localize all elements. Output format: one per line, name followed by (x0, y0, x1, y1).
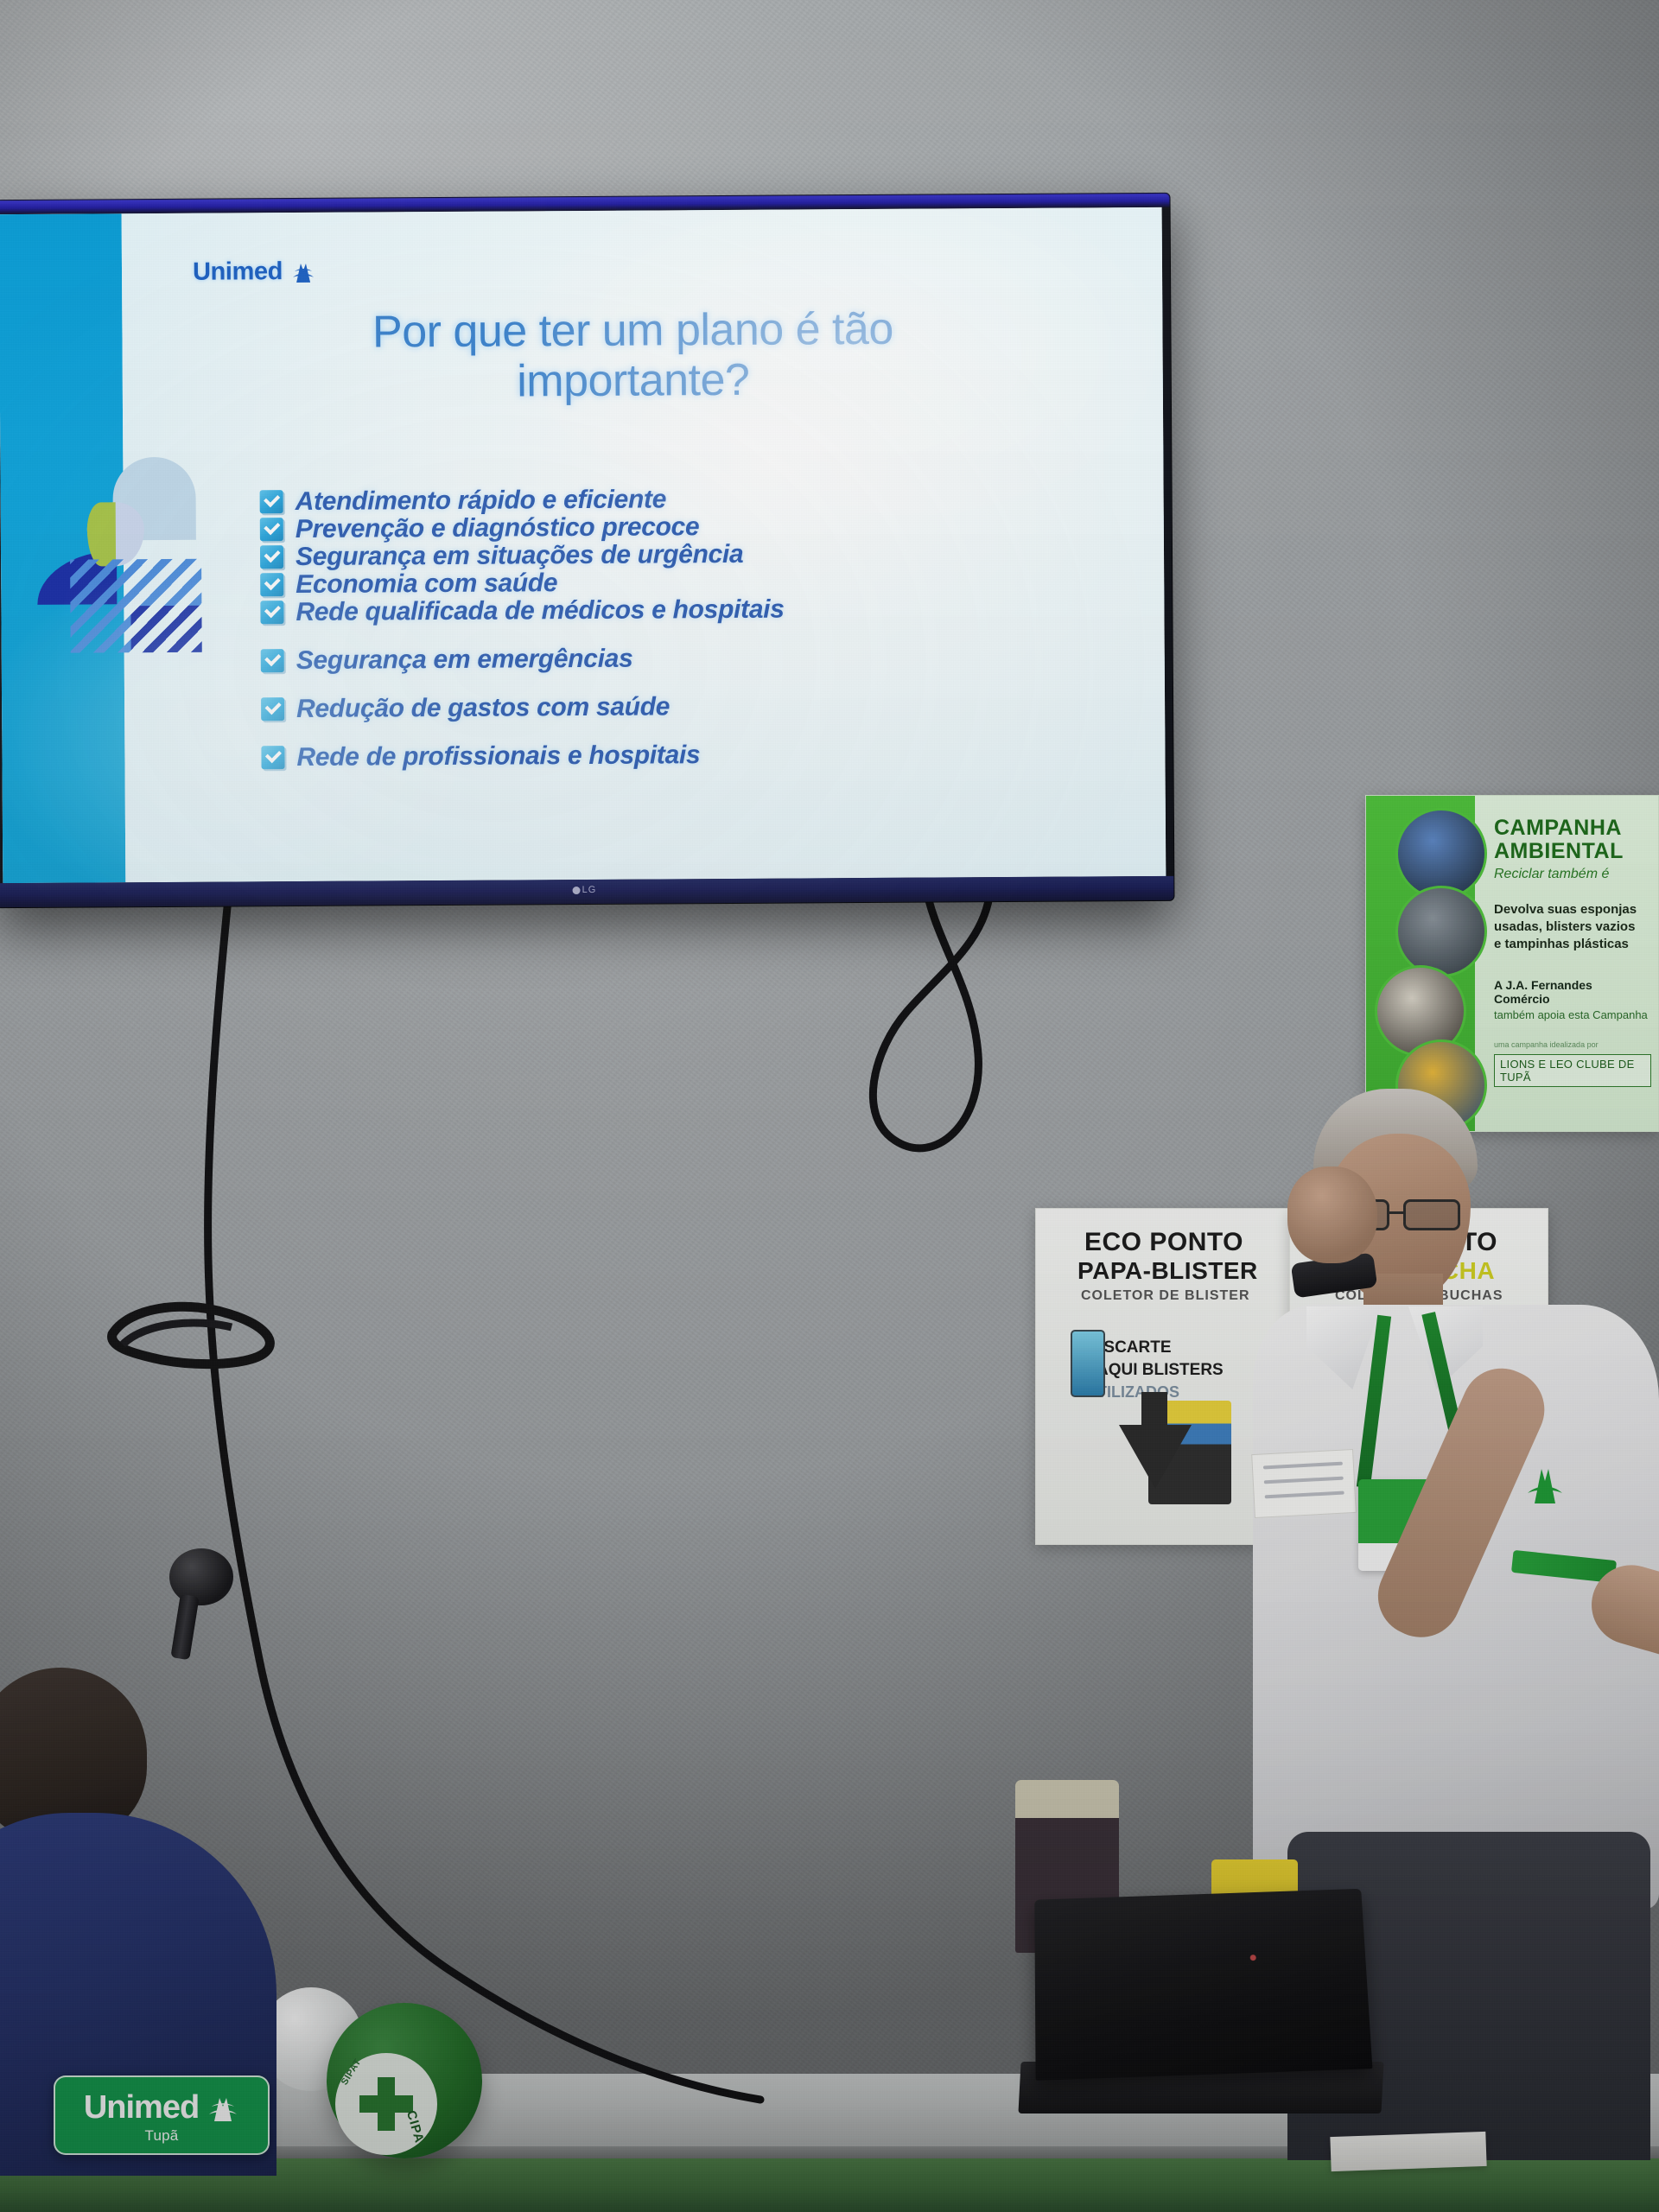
laptop-lid (1034, 1889, 1372, 2081)
slide-bullet-label: Rede qualificada de médicos e hospitais (296, 597, 784, 626)
slide-bullet-label: Atendimento rápido e eficiente (296, 486, 667, 515)
slide-decorative-graphic (36, 457, 208, 655)
slide-bullet-list: Atendimento rápido e eficientePrevenção … (260, 486, 785, 773)
presenter-name-tag (1251, 1449, 1357, 1518)
cipa-cross-icon (359, 2077, 413, 2131)
watermark-city: Tupã (145, 2127, 179, 2145)
slide-unimed-logo: Unimed (193, 257, 316, 287)
eco1-blister-image (1071, 1330, 1105, 1397)
check-box-icon (260, 601, 283, 624)
slide-bullet-label: Segurança em emergências (296, 646, 633, 674)
cipa-label: CIPA (404, 2109, 427, 2145)
poster-title-line1: CAMPANHA (1494, 817, 1651, 840)
slide-bullet-5: Rede qualificada de médicos e hospitais (260, 597, 784, 626)
poster-body: Devolva suas esponjas usadas, blisters v… (1494, 901, 1651, 952)
check-box-icon (261, 746, 284, 769)
slide-bullet-1: Atendimento rápido e eficiente (260, 486, 784, 516)
presentation-slide: Unimed Por que ter um plano é tão import… (0, 207, 1166, 883)
slide-bullet-label: Segurança em situações de urgência (296, 542, 744, 570)
slide-bullet-2: Prevenção e diagnóstico precoce (260, 514, 784, 543)
poster-subtitle: Reciclar também é (1494, 867, 1651, 882)
slide-title-line1: Por que ter um plano é tão (207, 303, 1058, 359)
slide-title: Por que ter um plano é tão importante? (207, 303, 1059, 409)
poster-body-line1: Devolva suas esponjas (1494, 901, 1651, 918)
slide-bullet-label: Economia com saúde (296, 570, 557, 598)
poster-title-line2: AMBIENTAL (1494, 840, 1651, 863)
poster-body-line3: e tampinhas plásticas (1494, 936, 1651, 953)
check-box-icon (261, 649, 284, 672)
unimed-symbol-icon (207, 2094, 239, 2123)
slide-title-line2: importante? (207, 353, 1059, 409)
poster-campanha-text: CAMPANHA AMBIENTAL Reciclar também é Dev… (1494, 817, 1651, 1087)
check-box-icon (260, 573, 283, 596)
laptop (1020, 1892, 1382, 2117)
presenter-shirt-logo-icon (1521, 1460, 1569, 1509)
slide-bullet-4: Economia com saúde (260, 569, 784, 599)
unimed-symbol-icon (290, 259, 316, 283)
check-box-icon (260, 518, 283, 541)
paper-on-table (1330, 2132, 1486, 2171)
balloon-cipa: CIPA SIPAT (327, 2003, 482, 2158)
unimed-tupa-watermark: Unimed Tupã (54, 2075, 270, 2155)
cable-plug (169, 1548, 233, 1605)
cipa-emblem: CIPA SIPAT (335, 2053, 437, 2155)
slide-bullet-8: Rede de profissionais e hospitais (261, 742, 785, 772)
slide-bullet-label: Redução de gastos com saúde (296, 694, 670, 722)
check-box-icon (260, 545, 283, 569)
check-box-icon (260, 490, 283, 513)
poster-tiny-credit: uma campanha idealizada por (1494, 1040, 1651, 1049)
lg-logo-icon: LG (573, 885, 597, 895)
photo-scene: Unimed Por que ter um plano é tão import… (0, 0, 1659, 2212)
poster-photo-sponges (1395, 886, 1487, 977)
check-box-icon (261, 697, 284, 721)
poster-support-line1: A J.A. Fernandes Comércio (1494, 978, 1651, 1006)
diagonal-stripes-navy (130, 606, 201, 652)
droplet-green-half (87, 502, 116, 566)
tv-bezel: Unimed Por que ter um plano é tão import… (0, 194, 1173, 907)
poster-lions-footer: LIONS E LEO CLUBE DE TUPÃ (1494, 1054, 1651, 1087)
slide-brand-name: Unimed (193, 257, 283, 287)
slide-bullet-label: Rede de profissionais e hospitais (296, 742, 700, 771)
presenter-fist (1287, 1166, 1377, 1263)
wall-mounted-tv: Unimed Por que ter um plano é tão import… (0, 194, 1173, 907)
slide-bullet-6: Segurança em emergências (261, 645, 785, 675)
poster-support-line2: também apoia esta Campanha (1494, 1008, 1651, 1021)
poster-body-line2: usadas, blisters vazios (1494, 918, 1651, 936)
poster-campanha-ambiental: CAMPANHA AMBIENTAL Reciclar também é Dev… (1365, 795, 1659, 1132)
watermark-brand: Unimed (84, 2089, 199, 2126)
slide-bullet-label: Prevenção e diagnóstico precoce (296, 514, 700, 543)
slide-bullet-7: Redução de gastos com saúde (261, 694, 785, 723)
coiled-cable (100, 1287, 290, 1370)
slide-bullet-3: Segurança em situações de urgência (260, 542, 784, 571)
